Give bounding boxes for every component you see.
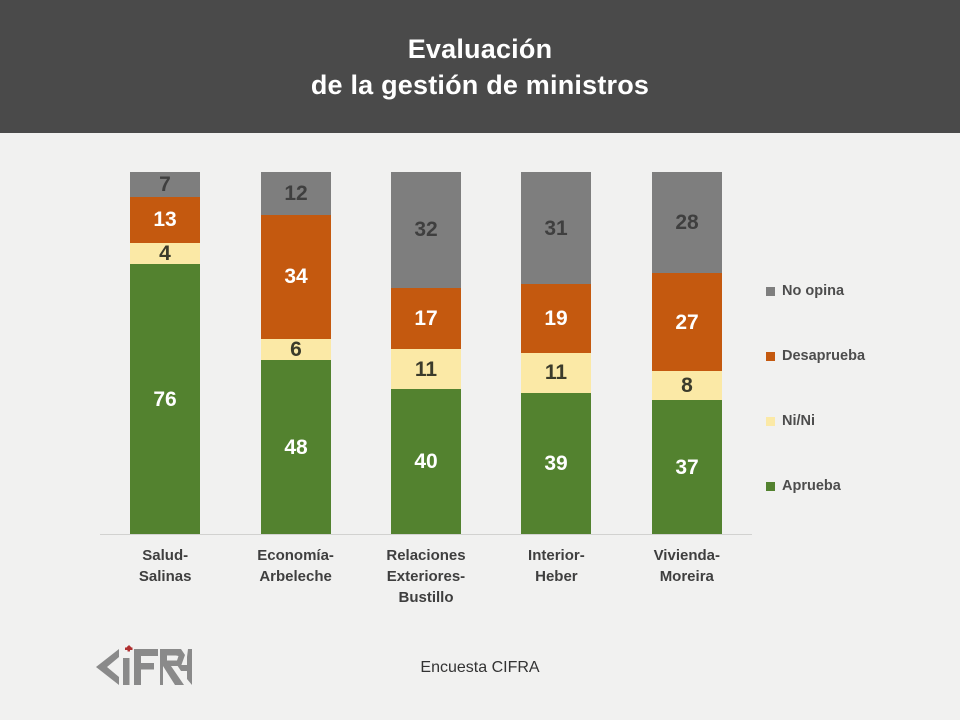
chart-plot-container: 713476123464832171140311911392827837 Sal… (0, 133, 960, 720)
bar-segment: 12 (261, 172, 331, 215)
x-axis-label-line: Salinas (100, 566, 230, 587)
bar-segment: 7 (130, 172, 200, 197)
x-axis-label-line: Bustillo (361, 587, 491, 608)
bar-segment-value-label: 8 (681, 375, 693, 396)
bar-group: 31191139 (521, 172, 591, 534)
bar-segment: 13 (130, 197, 200, 243)
x-axis-label: Salud-Salinas (100, 545, 230, 587)
stacked-bar-plot: 713476123464832171140311911392827837 (100, 172, 752, 534)
x-axis-label-line: Economía- (230, 545, 360, 566)
bar-segment: 28 (652, 172, 722, 273)
bar-segment: 19 (521, 284, 591, 353)
bar-segment: 32 (391, 172, 461, 288)
bar-group: 2827837 (652, 172, 722, 534)
bar-segment-value-label: 39 (544, 453, 567, 474)
bar-segment: 37 (652, 400, 722, 534)
bar-segment: 17 (391, 288, 461, 350)
x-axis-label-line: Relaciones (361, 545, 491, 566)
bar-stack: 1234648 (261, 172, 331, 534)
bar-segment: 39 (521, 393, 591, 534)
bar-segment: 34 (261, 215, 331, 338)
x-axis-label: Economía-Arbeleche (230, 545, 360, 587)
bar-segment-value-label: 37 (675, 457, 698, 478)
bar-segment-value-label: 11 (545, 362, 567, 383)
x-axis-label-line: Vivienda- (622, 545, 752, 566)
bar-segment: 31 (521, 172, 591, 284)
bar-segment-value-label: 76 (153, 389, 176, 410)
x-axis-label-line: Interior- (491, 545, 621, 566)
x-axis-label-line: Salud- (100, 545, 230, 566)
bar-segment-value-label: 11 (415, 359, 437, 380)
bar-segment-value-label: 28 (675, 212, 698, 233)
legend-swatch-icon (766, 352, 775, 361)
legend-item-label: Ni/Ni (782, 413, 815, 429)
bar-segment-value-label: 27 (675, 312, 698, 333)
x-axis-label: RelacionesExteriores-Bustillo (361, 545, 491, 608)
x-axis-label-line: Heber (491, 566, 621, 587)
bar-stack: 2827837 (652, 172, 722, 534)
chart-header-banner: Evaluación de la gestión de ministros (0, 0, 960, 133)
x-axis-label-line: Exteriores- (361, 566, 491, 587)
bar-segment-value-label: 7 (159, 174, 171, 195)
legend-item[interactable]: Aprueba (766, 478, 841, 494)
bar-segment: 8 (652, 371, 722, 400)
bar-segment-value-label: 48 (284, 437, 307, 458)
legend-swatch-icon (766, 287, 775, 296)
bar-segment-value-label: 32 (414, 219, 437, 240)
bar-segment-value-label: 4 (159, 243, 171, 264)
bar-segment-value-label: 40 (414, 451, 437, 472)
x-axis-label-line: Moreira (622, 566, 752, 587)
legend-swatch-icon (766, 417, 775, 426)
bar-segment: 11 (521, 353, 591, 393)
bar-group: 713476 (130, 172, 200, 534)
bar-segment-value-label: 6 (290, 339, 302, 360)
x-axis-label-line: Arbeleche (230, 566, 360, 587)
legend-item[interactable]: No opina (766, 283, 844, 299)
page-title-line-2: de la gestión de ministros (311, 67, 649, 103)
x-axis-baseline (100, 534, 752, 535)
legend-item-label: Aprueba (782, 478, 841, 494)
bar-segment-value-label: 31 (544, 218, 567, 239)
bar-segment-value-label: 12 (284, 183, 307, 204)
legend-item-label: No opina (782, 283, 844, 299)
bar-segment: 40 (391, 389, 461, 534)
bar-stack: 31191139 (521, 172, 591, 534)
bar-segment: 76 (130, 264, 200, 534)
legend-item-label: Desaprueba (782, 348, 865, 364)
x-axis-label: Vivienda-Moreira (622, 545, 752, 587)
bar-segment-value-label: 17 (414, 308, 437, 329)
bar-segment-value-label: 19 (544, 308, 567, 329)
bar-stack: 713476 (130, 172, 200, 534)
bar-segment-value-label: 13 (153, 209, 176, 230)
legend-item[interactable]: Desaprueba (766, 348, 865, 364)
x-axis-label: Interior-Heber (491, 545, 621, 587)
bar-stack: 32171140 (391, 172, 461, 534)
bar-segment: 6 (261, 339, 331, 361)
bar-segment-value-label: 34 (284, 266, 307, 287)
bar-segment: 4 (130, 243, 200, 264)
legend-item[interactable]: Ni/Ni (766, 413, 815, 429)
cifra-logo (88, 644, 194, 690)
bar-segment: 27 (652, 273, 722, 371)
bar-segment: 48 (261, 360, 331, 534)
page-title-line-1: Evaluación (408, 31, 553, 67)
legend-swatch-icon (766, 482, 775, 491)
bar-segment: 11 (391, 349, 461, 389)
bar-group: 1234648 (261, 172, 331, 534)
bar-group: 32171140 (391, 172, 461, 534)
